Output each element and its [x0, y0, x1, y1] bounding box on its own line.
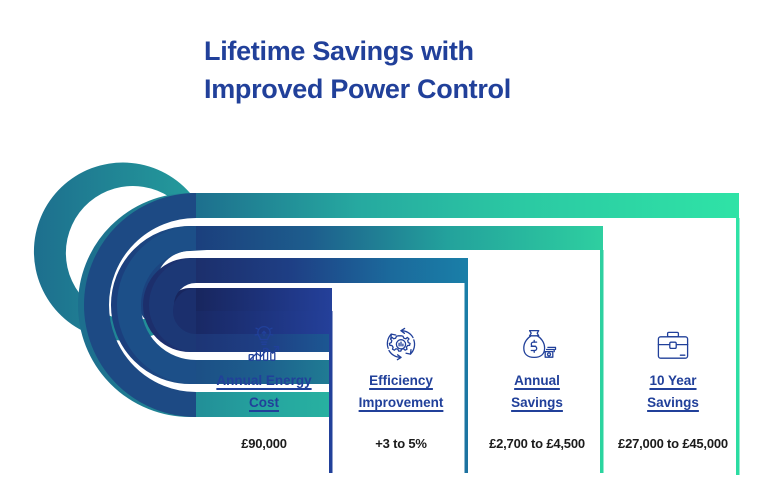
- infographic-root: Lifetime Savings with Improved Power Con…: [0, 0, 768, 496]
- metric-label-line-2: Cost: [196, 392, 332, 414]
- metric-10-year-savings: 10 Year Savings £27,000 to £45,000: [606, 318, 740, 451]
- metric-value: £90,000: [196, 436, 332, 451]
- metric-label: Annual Energy Cost: [196, 370, 332, 414]
- metric-label-line-2: Savings: [470, 392, 604, 414]
- metric-label-line-1: Annual Energy: [196, 370, 332, 392]
- metrics-row: Annual Energy Cost £90,000: [0, 318, 768, 496]
- efficiency-gear-icon: [334, 318, 468, 364]
- metric-value: £27,000 to £45,000: [606, 436, 740, 451]
- page-title: Lifetime Savings with Improved Power Con…: [204, 32, 564, 109]
- metric-label-line-2: Improvement: [334, 392, 468, 414]
- metric-value: +3 to 5%: [334, 436, 468, 451]
- metric-value: £2,700 to £4,500: [470, 436, 604, 451]
- briefcase-icon: [606, 318, 740, 364]
- metric-efficiency-improvement: Efficiency Improvement +3 to 5%: [334, 318, 468, 451]
- swoosh-bar-1: [190, 193, 739, 218]
- title-line-1: Lifetime Savings with: [204, 32, 564, 70]
- swoosh-bar-4: [190, 288, 332, 311]
- energy-chart-icon: [196, 318, 332, 364]
- swoosh-band-outer-teal: [34, 163, 739, 341]
- metric-label: Annual Savings: [470, 370, 604, 414]
- metric-annual-savings: Annual Savings £2,700 to £4,500: [470, 318, 604, 451]
- metric-label-line-2: Savings: [606, 392, 740, 414]
- metric-label: 10 Year Savings: [606, 370, 740, 414]
- metric-label-line-1: Annual: [470, 370, 604, 392]
- swoosh-bar-3: [190, 258, 468, 283]
- title-line-2: Improved Power Control: [204, 70, 564, 108]
- metric-label: Efficiency Improvement: [334, 370, 468, 414]
- metric-annual-energy-cost: Annual Energy Cost £90,000: [196, 318, 332, 451]
- swoosh-bar-2: [190, 226, 603, 250]
- metric-label-line-1: 10 Year: [606, 370, 740, 392]
- money-bag-icon: [470, 318, 604, 364]
- metric-label-line-1: Efficiency: [334, 370, 468, 392]
